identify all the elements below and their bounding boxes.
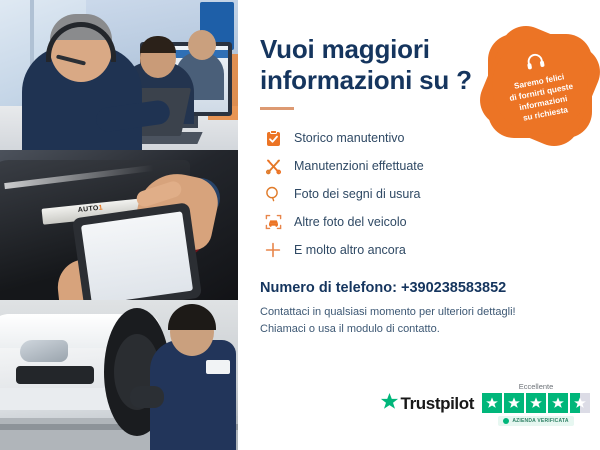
rating-label: Eccellente <box>519 382 554 391</box>
list-item-label: E molto altro ancora <box>294 243 406 257</box>
front-grille <box>16 366 94 384</box>
crossed-tools-icon <box>260 155 286 177</box>
call-center-photo <box>0 0 238 150</box>
star-2 <box>504 393 524 413</box>
contact-note-line-1: Contattaci in qualsiasi momento per ulte… <box>260 304 600 321</box>
magnifier-icon <box>260 183 286 205</box>
list-item: Altre foto del veicolo <box>260 208 600 236</box>
star-rating <box>482 393 590 413</box>
contact-note-line-2: Chiamaci o usa il modulo di contatto. <box>260 321 600 338</box>
list-item: E molto altro ancora <box>260 236 600 264</box>
trustpilot-brand: Trustpilot <box>401 394 474 414</box>
list-item-label: Altre foto del veicolo <box>294 215 407 229</box>
trustpilot-star-icon <box>380 392 399 416</box>
list-item-label: Manutenzioni effettuate <box>294 159 424 173</box>
verified-label: AZIENDA VERIFICATA <box>512 418 568 424</box>
headlight <box>20 340 68 362</box>
mechanic-glove <box>130 386 164 408</box>
mechanic-hair <box>168 304 216 330</box>
trustpilot-widget[interactable]: Trustpilot Eccellente <box>380 382 590 426</box>
uniform-badge <box>206 360 230 374</box>
promo-banner: AUTO1 Vuoi maggiori informazioni su ? <box>0 0 600 450</box>
trustpilot-logo: Trustpilot <box>380 392 474 416</box>
trustpilot-rating: Eccellente <box>482 382 590 426</box>
badge-content: Saremo felici di fornirti queste informa… <box>479 25 600 147</box>
background-head-3 <box>188 30 216 60</box>
content-panel: Vuoi maggiori informazioni su ? Storico … <box>238 0 600 450</box>
verified-check-icon <box>503 418 509 424</box>
star-5-half <box>570 393 590 413</box>
title-line-1: Vuoi maggiori <box>260 34 430 64</box>
verified-badge: AZIENDA VERIFICATA <box>498 416 573 426</box>
workshop-wheel-photo <box>0 300 238 450</box>
star-4 <box>548 393 568 413</box>
vehicle-inspection-photo: AUTO1 <box>0 150 238 300</box>
phone-line[interactable]: Numero di telefono: +390238583852 <box>260 280 600 296</box>
title-underline <box>260 107 294 110</box>
request-info-badge: Saremo felici di fornirti queste informa… <box>488 34 592 138</box>
headset-icon <box>524 51 548 76</box>
list-item: Manutenzioni effettuate <box>260 152 600 180</box>
title-line-2: informazioni su ? <box>260 65 472 95</box>
list-item-label: Foto dei segni di usura <box>294 187 420 201</box>
list-item-label: Storico manutentivo <box>294 131 404 145</box>
star-1 <box>482 393 502 413</box>
tablet-device <box>72 202 202 300</box>
list-item: Foto dei segni di usura <box>260 180 600 208</box>
background-hair-2 <box>140 36 176 53</box>
clipboard-check-icon <box>260 127 286 149</box>
star-3 <box>526 393 546 413</box>
photo-column: AUTO1 <box>0 0 238 450</box>
contact-note: Contattaci in qualsiasi momento per ulte… <box>260 304 600 338</box>
plus-icon <box>260 239 286 261</box>
car-scan-icon <box>260 211 286 233</box>
